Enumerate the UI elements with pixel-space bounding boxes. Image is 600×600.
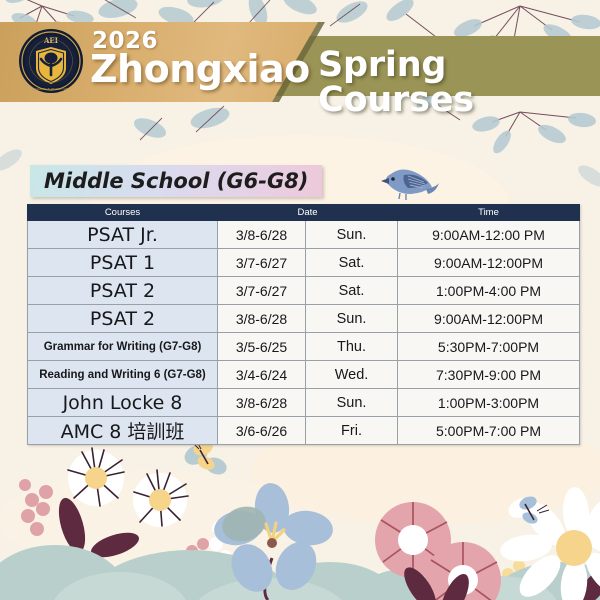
cell-day: Sat. xyxy=(306,277,398,305)
cell-date: 3/8-6/28 xyxy=(218,305,306,333)
course-schedule-table: Courses Date Time PSAT Jr.3/8-6/28Sun.9:… xyxy=(27,204,580,445)
cell-course: PSAT 2 xyxy=(28,305,218,333)
cell-time: 1:00PM-3:00PM xyxy=(398,389,580,417)
svg-text:ACADEMIC ELITE INSTITUTE: ACADEMIC ELITE INSTITUTE xyxy=(33,87,69,91)
section-badge: Middle School (G6-G8) xyxy=(30,165,322,197)
leaf-icon xyxy=(54,495,142,562)
cell-day: Sun. xyxy=(306,221,398,249)
cell-day: Thu. xyxy=(306,333,398,361)
cell-date: 3/7-6/27 xyxy=(218,277,306,305)
table-row: PSAT 23/7-6/27Sat.1:00PM-4:00 PM xyxy=(28,277,580,305)
section-badge-label: Middle School (G6-G8) xyxy=(44,169,308,193)
table-row: John Locke 83/8-6/28Sun.1:00PM-3:00PM xyxy=(28,389,580,417)
cell-course: PSAT 1 xyxy=(28,249,218,277)
column-header-time: Time xyxy=(398,205,580,221)
cell-time: 5:30PM-7:00PM xyxy=(398,333,580,361)
cell-day: Fri. xyxy=(306,417,398,445)
cell-day: Sun. xyxy=(306,389,398,417)
cell-date: 3/4-6/24 xyxy=(218,361,306,389)
banner-season: Spring Courses xyxy=(318,48,600,118)
poster-canvas: AEI ACADEMIC ELITE INSTITUTE 2026 Zhongx… xyxy=(0,0,600,600)
banner-campus: Zhongxiao xyxy=(90,50,310,88)
cell-course: AMC 8 培訓班 xyxy=(28,417,218,445)
cell-course: John Locke 8 xyxy=(28,389,218,417)
cell-course: Reading and Writing 6 (G7-G8) xyxy=(28,361,218,389)
cell-course: Grammar for Writing (G7-G8) xyxy=(28,333,218,361)
blue-flower-icon xyxy=(211,481,335,600)
cell-date: 3/8-6/28 xyxy=(218,221,306,249)
cell-date: 3/7-6/27 xyxy=(218,249,306,277)
leaf-icon xyxy=(398,563,600,600)
cell-time: 5:00PM-7:00 PM xyxy=(398,417,580,445)
cell-course: PSAT 2 xyxy=(28,277,218,305)
table-row: Reading and Writing 6 (G7-G8)3/4-6/24Wed… xyxy=(28,361,580,389)
column-header-courses: Courses xyxy=(28,205,218,221)
berry-cluster-icon xyxy=(209,515,240,564)
daisy-flower-icon xyxy=(498,486,600,600)
cell-time: 9:00AM-12:00 PM xyxy=(398,221,580,249)
pink-flower-icon xyxy=(425,542,501,600)
berry-cluster-icon xyxy=(184,538,209,582)
blue-bird-icon xyxy=(378,163,440,205)
cell-date: 3/8-6/28 xyxy=(218,389,306,417)
butterfly-icon xyxy=(505,494,553,532)
table-header-row: Courses Date Time xyxy=(28,205,580,221)
cell-course: PSAT Jr. xyxy=(28,221,218,249)
berry-cluster-icon xyxy=(499,560,525,600)
table-row: Grammar for Writing (G7-G8)3/5-6/25Thu.5… xyxy=(28,333,580,361)
cell-time: 9:00AM-12:00PM xyxy=(398,249,580,277)
column-header-date: Date xyxy=(218,205,398,221)
berry-cluster-icon xyxy=(19,479,53,536)
table-row: PSAT Jr.3/8-6/28Sun.9:00AM-12:00 PM xyxy=(28,221,580,249)
cell-time: 7:30PM-9:00 PM xyxy=(398,361,580,389)
berry-cluster-icon xyxy=(374,566,400,598)
table-row: AMC 8 培訓班3/6-6/26Fri.5:00PM-7:00 PM xyxy=(28,417,580,445)
table-row: PSAT 13/7-6/27Sat.9:00AM-12:00PM xyxy=(28,249,580,277)
cell-time: 1:00PM-4:00 PM xyxy=(398,277,580,305)
cell-date: 3/5-6/25 xyxy=(218,333,306,361)
bush-shape xyxy=(0,545,600,600)
cell-day: Wed. xyxy=(306,361,398,389)
cell-day: Sun. xyxy=(306,305,398,333)
daisy-flower-icon xyxy=(68,448,124,506)
cell-time: 9:00AM-12:00PM xyxy=(398,305,580,333)
table-body: PSAT Jr.3/8-6/28Sun.9:00AM-12:00 PMPSAT … xyxy=(28,221,580,445)
bush-shape xyxy=(50,572,560,600)
cell-date: 3/6-6/26 xyxy=(218,417,306,445)
table-row: PSAT 23/8-6/28Sun.9:00AM-12:00PM xyxy=(28,305,580,333)
aei-seal-icon: AEI ACADEMIC ELITE INSTITUTE xyxy=(18,28,84,94)
cell-day: Sat. xyxy=(306,249,398,277)
pink-flower-icon xyxy=(375,502,451,578)
daisy-flower-icon xyxy=(133,470,188,527)
